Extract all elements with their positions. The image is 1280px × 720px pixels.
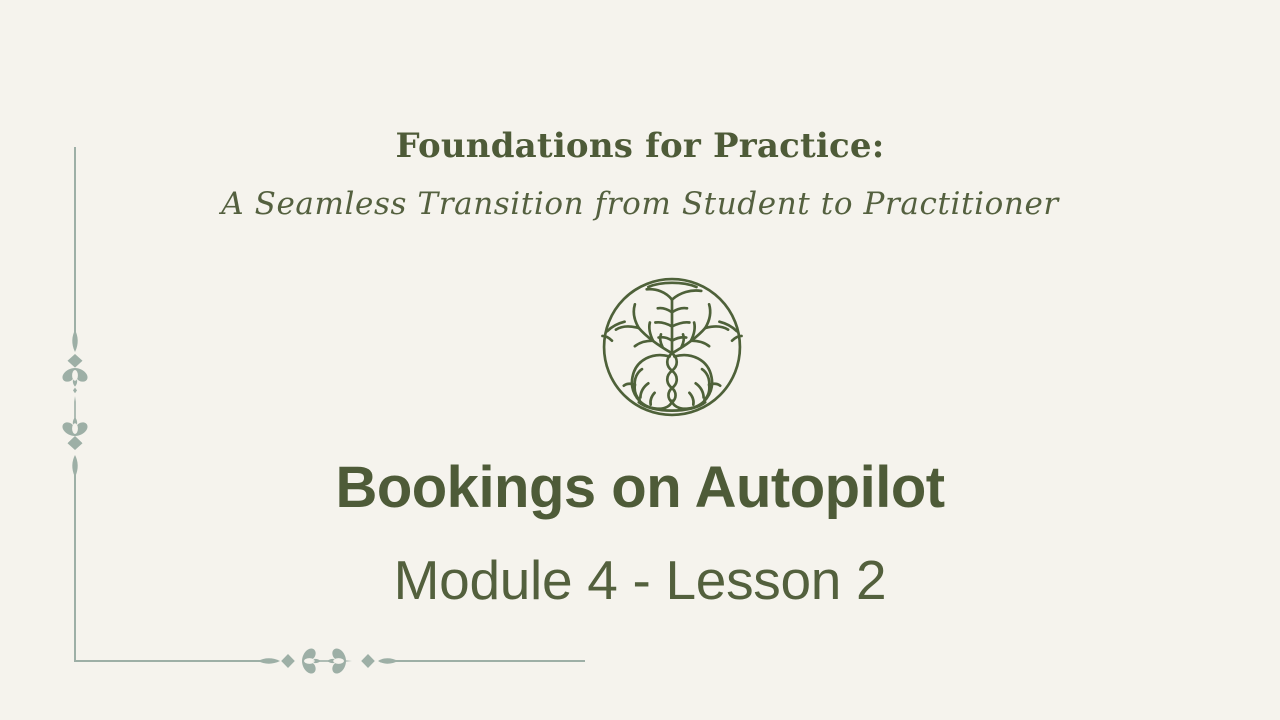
slide-canvas: Foundations for Practice: A Seamless Tra… — [0, 0, 1280, 720]
lesson-title: Bookings on Autopilot — [0, 455, 1280, 522]
course-title: Foundations for Practice: — [0, 128, 1280, 165]
course-subtitle: A Seamless Transition from Student to Pr… — [0, 186, 1280, 223]
lesson-subtitle: Module 4 - Lesson 2 — [0, 549, 1280, 612]
slide-content: Foundations for Practice: A Seamless Tra… — [0, 0, 1280, 720]
tree-of-life-logo — [590, 268, 754, 426]
tree-of-life-icon — [590, 268, 754, 426]
